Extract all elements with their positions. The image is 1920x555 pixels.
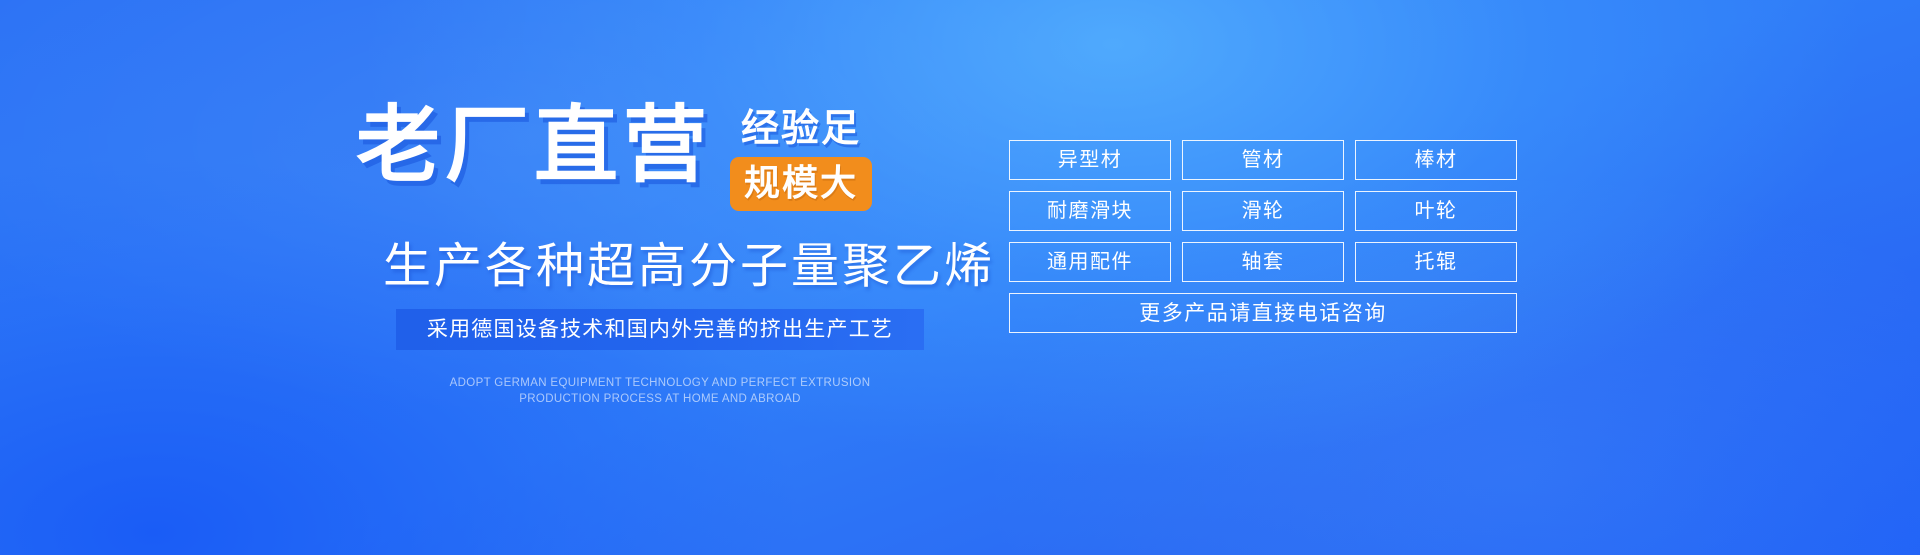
english-caption-line-1: ADOPT GERMAN EQUIPMENT TECHNOLOGY AND PE… (396, 375, 924, 391)
category-row-1: 异型材 管材 棒材 (1009, 140, 1517, 180)
category-button-tuogun[interactable]: 托辊 (1355, 242, 1517, 282)
category-grid: 异型材 管材 棒材 耐磨滑块 滑轮 叶轮 通用配件 (1009, 140, 1517, 344)
english-caption: ADOPT GERMAN EQUIPMENT TECHNOLOGY AND PE… (396, 375, 924, 407)
category-button-label: 托辊 (1415, 252, 1458, 272)
category-button-guancai[interactable]: 管材 (1182, 140, 1344, 180)
category-button-naimohuakuai[interactable]: 耐磨滑块 (1009, 191, 1171, 231)
category-button-yelun[interactable]: 叶轮 (1355, 191, 1517, 231)
headline-row: 老厂直营 经验足 规模大 (356, 103, 872, 211)
category-button-yixingcai[interactable]: 异型材 (1009, 140, 1171, 180)
category-button-label: 滑轮 (1242, 201, 1285, 221)
category-button-label: 通用配件 (1047, 252, 1133, 272)
more-products-contact-button[interactable]: 更多产品请直接电话咨询 (1009, 293, 1517, 333)
badge-experience: 经验足 (730, 107, 872, 151)
headline-badges: 经验足 规模大 (730, 107, 872, 211)
headline-block: 老厂直营 经验足 规模大 生产各种超高分子量聚乙烯 采用德国设备技术和国内外完善… (0, 0, 1000, 555)
category-button-hualun[interactable]: 滑轮 (1182, 191, 1344, 231)
more-products-contact-label: 更多产品请直接电话咨询 (1139, 303, 1387, 324)
category-button-label: 异型材 (1058, 150, 1123, 170)
category-button-label: 叶轮 (1415, 201, 1458, 221)
category-button-label: 管材 (1242, 150, 1285, 170)
headline-main-text: 老厂直营 (356, 103, 712, 187)
category-button-label: 耐磨滑块 (1047, 201, 1133, 221)
category-button-label: 棒材 (1415, 150, 1458, 170)
subheadline-text: 生产各种超高分子量聚乙烯 (383, 240, 995, 294)
english-caption-line-2: PRODUCTION PROCESS AT HOME AND ABROAD (396, 391, 924, 407)
category-row-3: 通用配件 轴套 托辊 (1009, 242, 1517, 282)
process-strip: 采用德国设备技术和国内外完善的挤出生产工艺 (396, 309, 924, 350)
category-button-tongyongpeijian[interactable]: 通用配件 (1009, 242, 1171, 282)
category-row-2: 耐磨滑块 滑轮 叶轮 (1009, 191, 1517, 231)
promo-banner: 老厂直营 经验足 规模大 生产各种超高分子量聚乙烯 采用德国设备技术和国内外完善… (0, 0, 1920, 555)
process-strip-text: 采用德国设备技术和国内外完善的挤出生产工艺 (427, 319, 893, 340)
category-row-cta: 更多产品请直接电话咨询 (1009, 293, 1517, 333)
category-button-label: 轴套 (1242, 252, 1285, 272)
category-button-zhoutao[interactable]: 轴套 (1182, 242, 1344, 282)
category-button-bangcai[interactable]: 棒材 (1355, 140, 1517, 180)
badge-scale: 规模大 (730, 157, 872, 211)
